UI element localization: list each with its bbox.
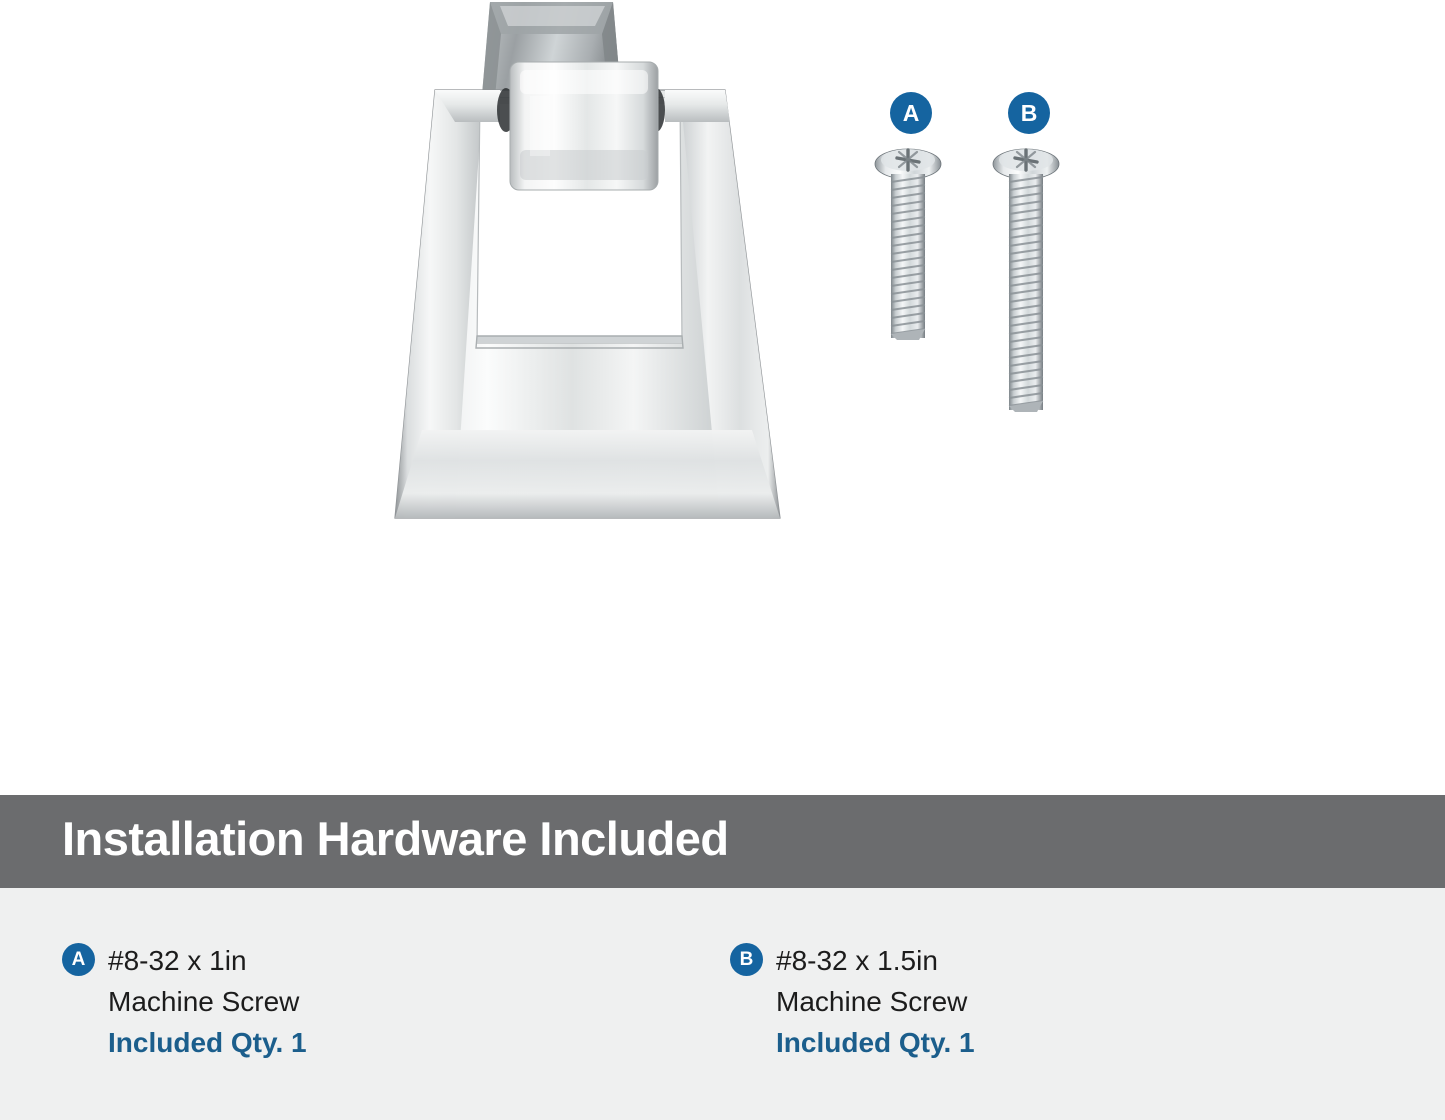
hardware-item-a-qty: Included Qty. 1 — [108, 1022, 307, 1063]
hardware-item-a-spec: #8-32 x 1in — [108, 940, 307, 981]
callout-badge-b-letter: B — [1021, 102, 1038, 125]
hardware-item-b: B #8-32 x 1.5in Machine Screw Included Q… — [730, 940, 975, 1063]
hardware-item-a-type: Machine Screw — [108, 981, 307, 1022]
hardware-item-b-text: #8-32 x 1.5in Machine Screw Included Qty… — [776, 940, 975, 1063]
product-photo-area: A — [0, 0, 1445, 795]
hardware-list-section: A #8-32 x 1in Machine Screw Included Qty… — [0, 888, 1445, 1120]
banner-title: Installation Hardware Included — [62, 811, 729, 866]
callout-badge-b: B — [1008, 92, 1050, 134]
callout-badge-a: A — [890, 92, 932, 134]
hardware-badge-b: B — [730, 943, 763, 976]
hardware-item-b-spec: #8-32 x 1.5in — [776, 940, 975, 981]
callout-badge-a-letter: A — [903, 102, 920, 125]
product-hardware-infographic: A — [0, 0, 1445, 1120]
hardware-badge-a-letter: A — [72, 950, 86, 969]
hardware-badge-a: A — [62, 943, 95, 976]
hardware-badge-b-letter: B — [740, 950, 754, 969]
hardware-item-b-qty: Included Qty. 1 — [776, 1022, 975, 1063]
cabinet-pull-product-image — [380, 0, 800, 540]
installation-hardware-banner: Installation Hardware Included — [0, 795, 1445, 888]
cabinet-pull-illustration — [380, 0, 800, 545]
hardware-item-a-text: #8-32 x 1in Machine Screw Included Qty. … — [108, 940, 307, 1063]
hardware-item-a: A #8-32 x 1in Machine Screw Included Qty… — [62, 940, 307, 1063]
screw-b — [990, 146, 1062, 423]
screw-a — [872, 146, 944, 351]
hardware-item-b-type: Machine Screw — [776, 981, 975, 1022]
